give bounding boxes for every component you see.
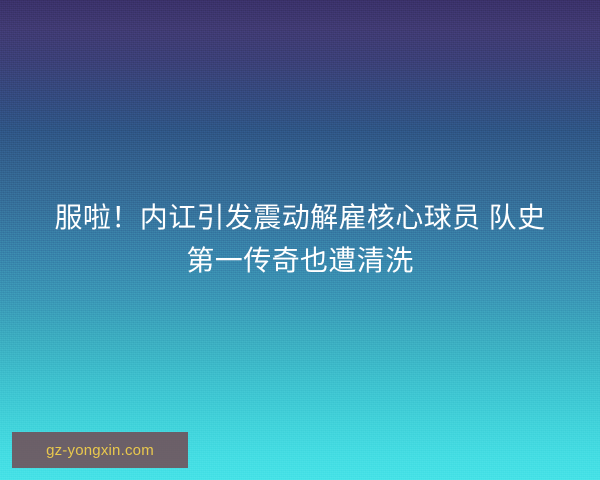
watermark-label: gz-yongxin.com <box>46 442 154 459</box>
headline-text: 服啦！内讧引发震动解雇核心球员 队史 第一传奇也遭清洗 <box>0 196 600 282</box>
news-card: 服啦！内讧引发震动解雇核心球员 队史 第一传奇也遭清洗 gz-yongxin.c… <box>0 0 600 480</box>
watermark-badge: gz-yongxin.com <box>12 432 188 468</box>
